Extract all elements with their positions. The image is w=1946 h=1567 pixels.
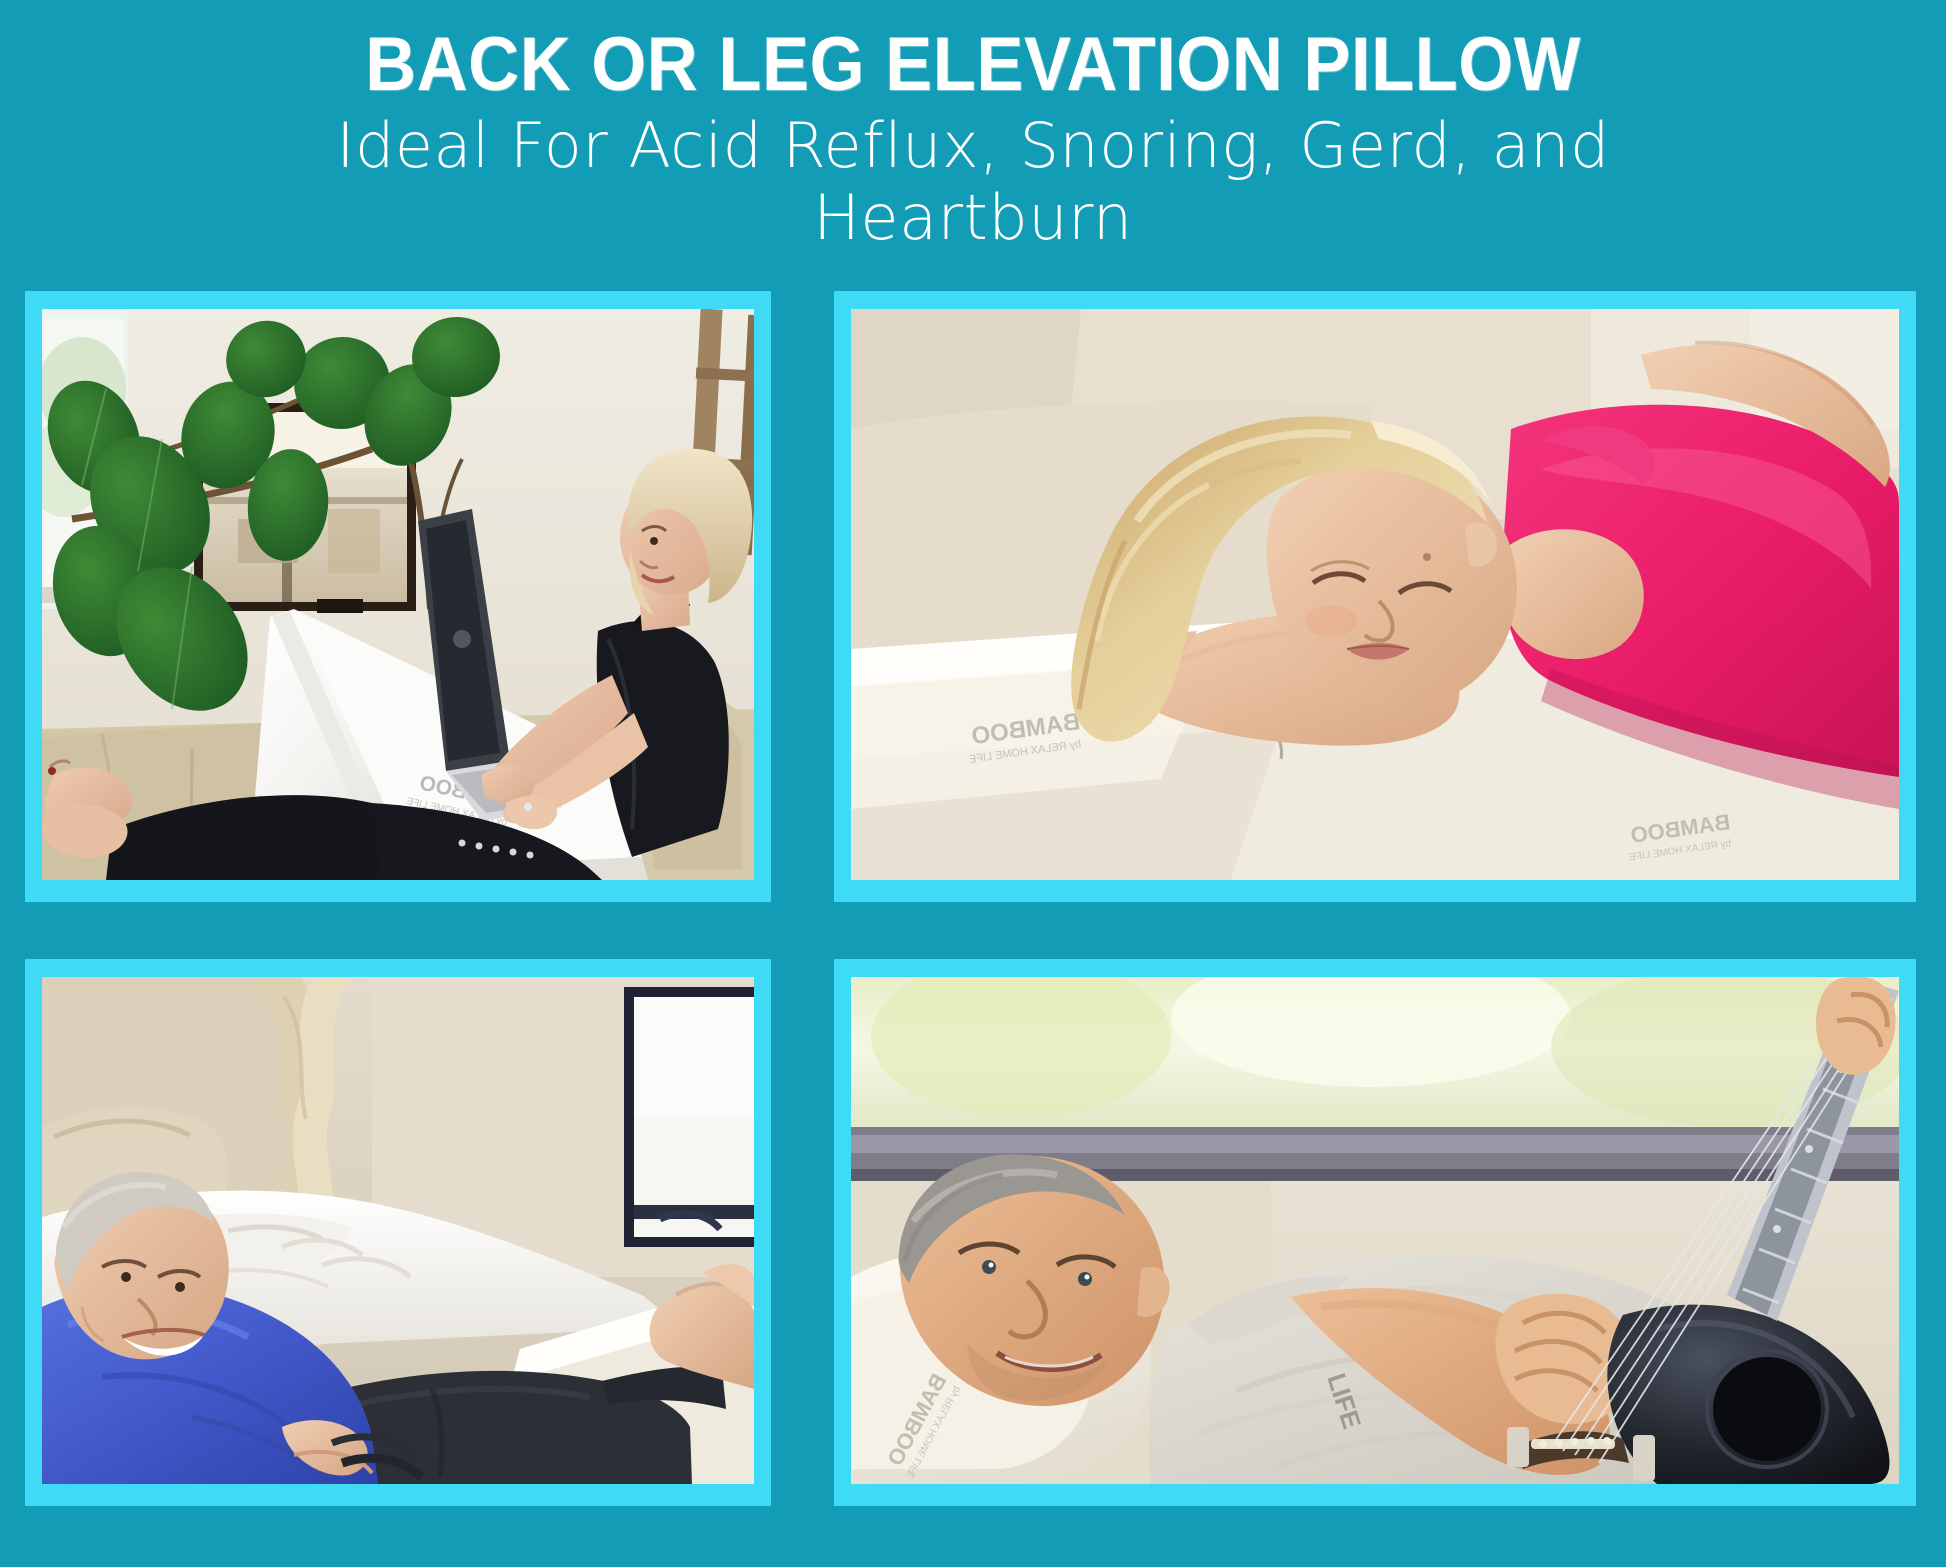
photo-woman-sleeping-illustration: BAMBOO by RELAX HOME LIFE BAMBOO by RELA…: [851, 309, 1899, 880]
photo-woman-laptop-illustration: BAMBOO by RELAX HOME LIFE: [42, 309, 754, 880]
photo-man-legs-elevated: BAMBOO: [42, 977, 754, 1484]
photo-man-guitar-illustration: BAMBOO by RELAX HOME LIFE LIFE: [851, 977, 1899, 1484]
photo-woman-sleeping-on-pillow: BAMBOO by RELAX HOME LIFE BAMBOO by RELA…: [851, 309, 1899, 880]
page-title: BACK OR LEG ELEVATION PILLOW: [68, 22, 1878, 108]
photo-woman-laptop-wedge-pillow: BAMBOO by RELAX HOME LIFE: [42, 309, 754, 880]
photo-man-guitar-on-pillow: BAMBOO by RELAX HOME LIFE LIFE: [851, 977, 1899, 1484]
photo-man-legs-elevated-illustration: BAMBOO: [42, 977, 754, 1484]
photo-gallery-grid: BAMBOO by RELAX HOME LIFE: [25, 291, 1916, 1506]
photo-panel-bottom-left[interactable]: BAMBOO: [25, 959, 771, 1506]
header-block: BACK OR LEG ELEVATION PILLOW Ideal For A…: [0, 0, 1946, 290]
product-infographic: BACK OR LEG ELEVATION PILLOW Ideal For A…: [0, 0, 1946, 1567]
photo-panel-top-right[interactable]: BAMBOO by RELAX HOME LIFE BAMBOO by RELA…: [834, 291, 1916, 902]
photo-panel-top-left[interactable]: BAMBOO by RELAX HOME LIFE: [25, 291, 771, 902]
page-subtitle: Ideal For Acid Reflux, Snoring, Gerd, an…: [0, 108, 1946, 254]
photo-panel-bottom-right[interactable]: BAMBOO by RELAX HOME LIFE LIFE: [834, 959, 1916, 1506]
